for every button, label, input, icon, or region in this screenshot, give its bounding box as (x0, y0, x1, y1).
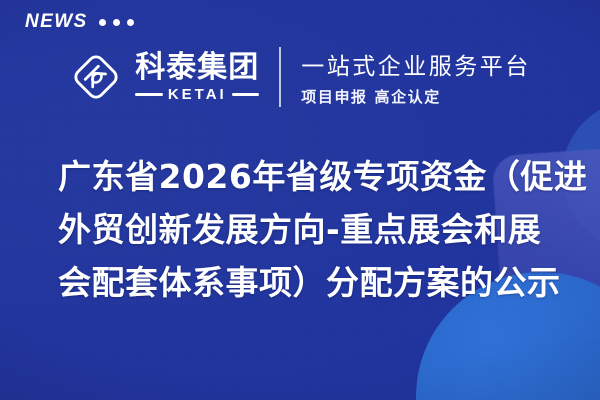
wordmark-rule-left (135, 93, 163, 96)
brand-divider (279, 47, 281, 107)
eyebrow-label: NEWS (25, 12, 88, 31)
eyebrow-dot (99, 19, 106, 26)
brand-logo: 科泰集团 KETAI (69, 50, 259, 104)
eyebrow-dot (113, 19, 120, 26)
eyebrow-dot (127, 19, 134, 26)
brand-name-en: KETAI (168, 87, 227, 102)
brand-name-cn: 科泰集团 (135, 53, 259, 83)
headline-line-2: 外贸创新发展方向-重点展会和展 (58, 203, 560, 256)
eyebrow-dots-icon (99, 19, 134, 26)
brand-band: 科泰集团 KETAI 一站式企业服务平台 项目申报 高企认定 (0, 42, 600, 112)
news-banner: NEWS 科泰集团 (0, 0, 600, 400)
tagline: 一站式企业服务平台 项目申报 高企认定 (301, 47, 531, 107)
headline-line-3: 会配套体系事项）分配方案的公示 (58, 256, 560, 309)
headline: 广东省2026年省级专项资金（促进 外贸创新发展方向-重点展会和展 会配套体系事… (58, 150, 560, 309)
brand-wordmark: 科泰集团 KETAI (135, 53, 259, 102)
tagline-main: 一站式企业服务平台 (301, 47, 531, 81)
tagline-sub: 项目申报 高企认定 (301, 86, 531, 107)
headline-line-1: 广东省2026年省级专项资金（促进 (58, 150, 560, 203)
ketai-diamond-kd-logo-icon (69, 50, 123, 104)
wordmark-rule-right (232, 93, 260, 96)
eyebrow: NEWS (25, 12, 134, 31)
brand-name-en-row: KETAI (135, 87, 259, 102)
